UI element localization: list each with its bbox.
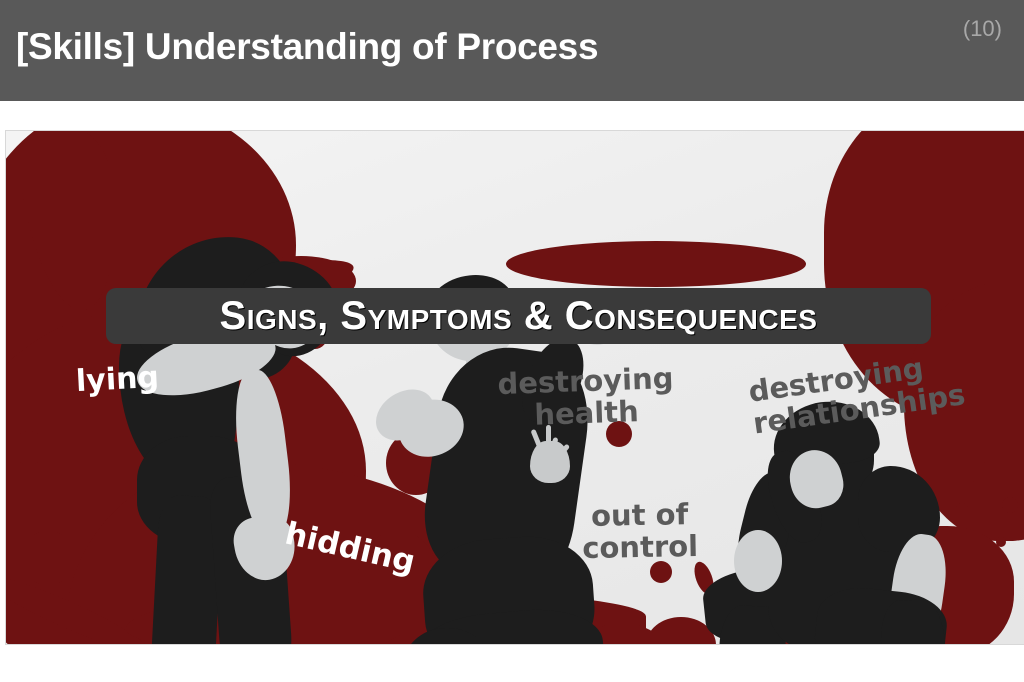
image-canvas: lying hidding destroying health out of c… <box>6 131 1024 644</box>
page-number: (10) <box>963 16 1002 42</box>
slide: [Skills] Understanding of Process (10) <box>0 0 1024 682</box>
figure-foot <box>554 644 634 645</box>
annotation-out-of-control: out of control <box>581 498 698 565</box>
slide-header: [Skills] Understanding of Process (10) <box>0 0 1024 101</box>
page-title: [Skills] Understanding of Process <box>16 26 598 68</box>
annotation-lying: lying <box>75 361 160 399</box>
blood-droplet <box>1002 497 1018 513</box>
banner-title: Signs, Symptoms & Consequences <box>220 294 818 339</box>
blood-droplet <box>996 537 1006 547</box>
blood-droplet <box>12 431 46 465</box>
blood-droplet <box>20 531 76 585</box>
figure-elbow <box>734 530 782 592</box>
blood-droplet <box>650 561 672 583</box>
annotation-destroying-health: destroying health <box>497 362 675 433</box>
slide-image: lying hidding destroying health out of c… <box>5 130 1024 645</box>
figure-seated-man <box>706 406 986 645</box>
image-banner: Signs, Symptoms & Consequences <box>106 288 931 344</box>
